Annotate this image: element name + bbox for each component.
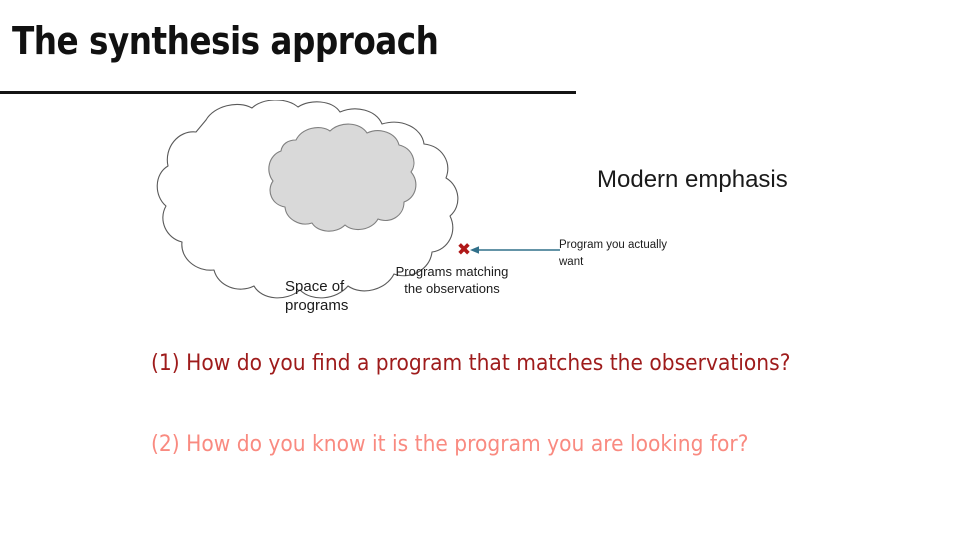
callout-arrow-icon bbox=[466, 241, 560, 259]
label-program-you-want-line1: Program you actually bbox=[559, 237, 689, 254]
question-line-1: (1) How do you find a program that match… bbox=[151, 350, 790, 376]
cloud-diagram: Space of programs Programs matching the … bbox=[110, 100, 470, 335]
label-programs-matching-line2: the observations bbox=[382, 280, 522, 297]
label-space-of-programs: Space of programs bbox=[285, 277, 375, 315]
label-program-you-actually-want: Program you actually want bbox=[559, 237, 689, 270]
inner-cloud-shape bbox=[269, 124, 416, 231]
question-line-2: (2) How do you know it is the program yo… bbox=[151, 431, 748, 457]
label-program-you-want-line2: want bbox=[559, 254, 689, 271]
modern-emphasis-caption: Modern emphasis bbox=[597, 166, 788, 194]
title-underline-rule bbox=[0, 91, 576, 94]
label-programs-matching-observations: Programs matching the observations bbox=[382, 263, 522, 297]
label-programs-matching-line1: Programs matching bbox=[382, 263, 522, 280]
page-title: The synthesis approach bbox=[12, 22, 438, 60]
